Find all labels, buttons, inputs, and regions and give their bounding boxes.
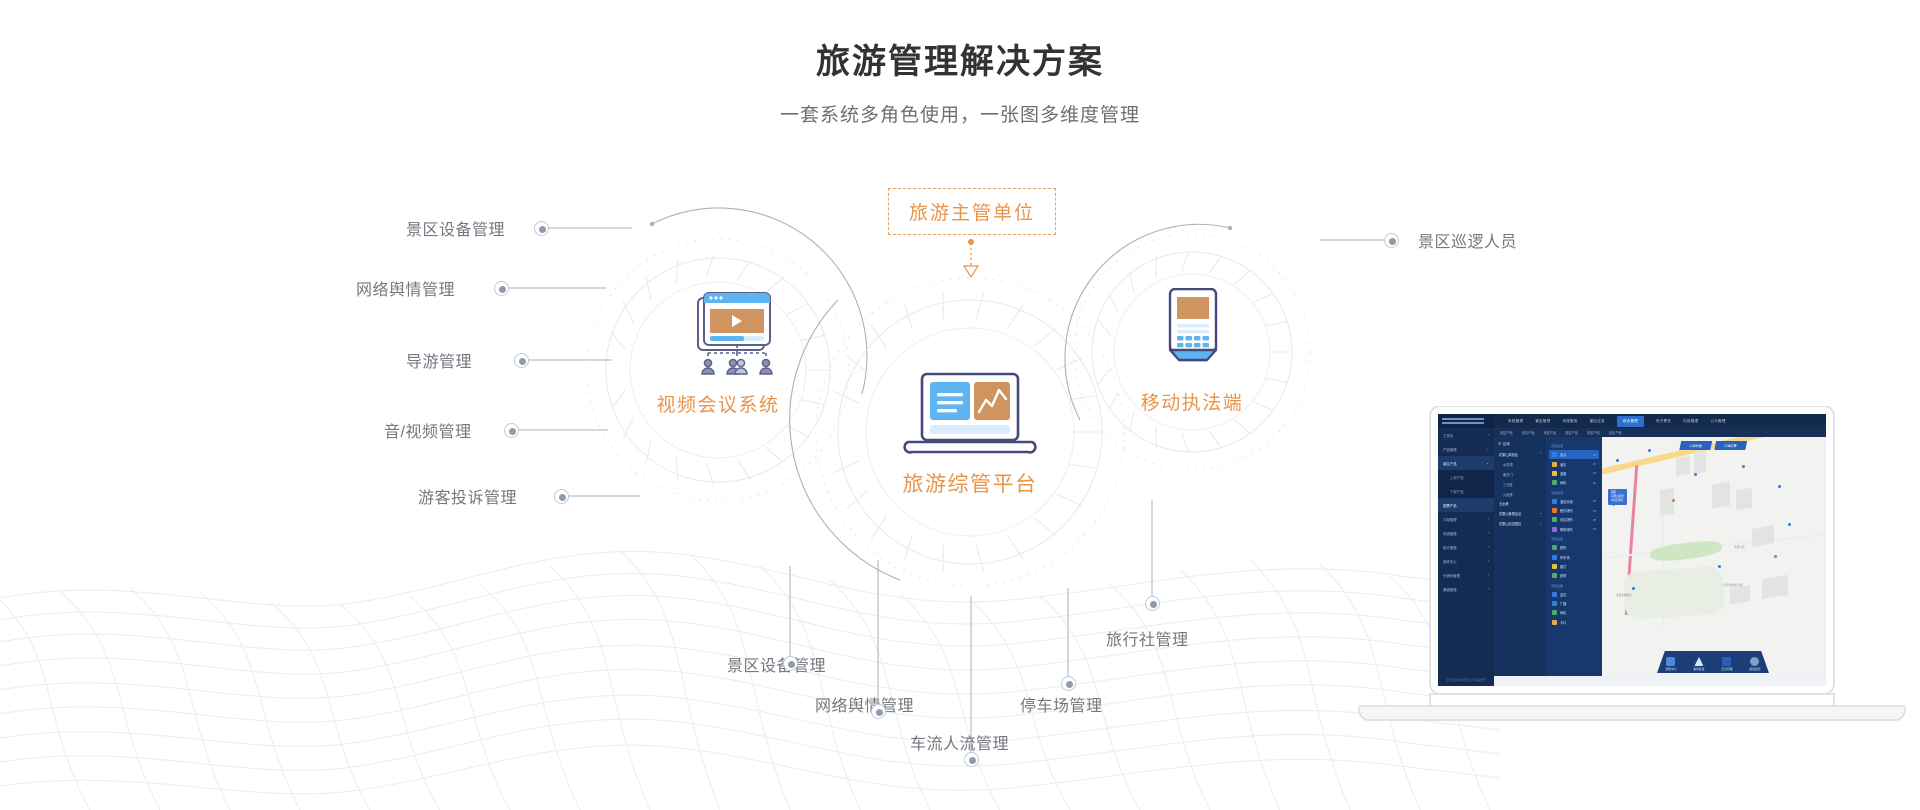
map-action[interactable]: 应急管理	[1721, 657, 1732, 671]
map-view-toggle[interactable]: 二维地图 三维实景	[1679, 441, 1746, 450]
sidebar-item-label: 工作台	[1443, 433, 1453, 438]
bottom-dot-2[interactable]	[964, 752, 979, 767]
chevron-right-icon: ›	[1488, 433, 1489, 437]
layer-color-swatch	[1552, 471, 1557, 476]
chevron-right-icon: ›	[1488, 559, 1489, 563]
map-callout[interactable]: 园区 花果山风景 3件高风险	[1608, 489, 1627, 505]
bottom-dot-1[interactable]	[871, 704, 886, 719]
dashboard-logo	[1438, 414, 1494, 428]
map-green-area	[1649, 539, 1722, 564]
region-row[interactable]: 花果山管委会区⌄	[1498, 509, 1542, 519]
chevron-down-icon: ⌄	[1539, 511, 1542, 516]
layer-item[interactable]: 酒店民宿45	[1549, 497, 1599, 506]
top-menu-item[interactable]: 公众管理	[1710, 419, 1725, 424]
sidebar-item[interactable]: 产品管理⌄	[1438, 442, 1494, 456]
layer-item[interactable]: 厕所	[1549, 543, 1599, 552]
sidebar-item-label: 团票产品	[1443, 503, 1457, 508]
sidebar-item[interactable]: 渠道管理›	[1438, 582, 1494, 596]
bottom-label-1[interactable]: 网络舆情管理	[815, 692, 914, 716]
handheld-device-icon	[1162, 288, 1224, 377]
region-tree-title-label: 区域	[1503, 441, 1510, 446]
map-pin[interactable]	[1778, 485, 1781, 488]
sidebar-item-label: 统计管理	[1443, 545, 1457, 550]
dashboard-sidebar[interactable]: 工作台› 产品管理⌄ 景区产品⌄ 上架产品 下架产品 团票产品 订单管理› 系统…	[1438, 428, 1494, 686]
sidebar-item[interactable]: 景区产品⌄	[1438, 456, 1494, 470]
layer-item[interactable]: 广播	[1549, 599, 1599, 608]
map-action[interactable]: 通知中心	[1665, 657, 1676, 671]
left-label-2[interactable]: 导游管理	[406, 348, 472, 372]
sidebar-item-label: 分销商管理	[1443, 573, 1460, 578]
map-building	[1660, 488, 1674, 516]
layer-color-swatch	[1552, 573, 1557, 578]
layer-group-title: 景区设施	[1551, 537, 1599, 541]
tab-item[interactable]: 景区产品	[1500, 430, 1513, 435]
map-place-label: 世博公园	[1734, 545, 1744, 549]
layer-item[interactable]: 监控	[1549, 590, 1599, 599]
bottom-connector-lines	[790, 500, 1152, 760]
map-building	[1676, 456, 1690, 476]
map-pin[interactable]	[1788, 523, 1791, 526]
menu-icon: ☰	[1498, 442, 1501, 446]
left-label-4[interactable]: 游客投诉管理	[418, 484, 517, 508]
chevron-down-icon: ⌄	[1539, 521, 1542, 526]
map-view-2d[interactable]: 二维地图	[1679, 441, 1712, 450]
layer-item[interactable]: 路灯	[1549, 562, 1599, 571]
dashboard-tab-strip[interactable]: 景区产品 景区产品 景区产品 景区产品 景区产品 景区产品	[1494, 428, 1826, 437]
sidebar-item-label: 订单管理	[1443, 517, 1457, 522]
map-pin[interactable]	[1632, 587, 1635, 590]
sidebar-item-label: 渠道管理	[1443, 587, 1457, 592]
left-dot-1[interactable]	[494, 281, 509, 296]
sidebar-subitem[interactable]: 上架产品	[1438, 470, 1494, 484]
chevron-down-icon: ⌄	[1486, 447, 1489, 451]
region-tree-title: ☰ 区域	[1498, 441, 1542, 446]
map-action[interactable]: 舆情监控	[1749, 657, 1760, 671]
chevron-right-icon: ›	[1488, 517, 1489, 521]
page-title: 旅游管理解决方案	[0, 42, 1920, 83]
sidebar-item-label: 产品管理	[1443, 447, 1457, 452]
map-building	[1730, 585, 1750, 605]
top-menu-item-active[interactable]: 综合管理	[1617, 416, 1644, 427]
layer-item[interactable]: 餐饮场所78	[1549, 506, 1599, 515]
map-pin[interactable]	[1616, 459, 1619, 462]
layer-group-title: 景区设备	[1551, 584, 1599, 588]
map-bottom-bar[interactable]: 通知中心 事件处置 应急管理 舆情监控	[1657, 651, 1769, 673]
region-row[interactable]: 玉女峰	[1498, 499, 1542, 509]
map-view-3d[interactable]: 三维实景	[1714, 441, 1747, 450]
map-pin[interactable]	[1718, 565, 1721, 568]
layer-color-swatch	[1552, 564, 1557, 569]
sidebar-item-label: 操作中心	[1443, 559, 1457, 564]
layer-panel[interactable]: 景区资源 景点23 酒店23 道路23 闸机56 涉旅资源 酒店民宿45 餐饮场…	[1546, 437, 1602, 676]
layer-item[interactable]: 闸机	[1549, 608, 1599, 617]
sidebar-item-label: 下架产品	[1450, 489, 1464, 494]
layer-color-swatch	[1552, 592, 1557, 597]
bottom-label-3[interactable]: 停车场管理	[1020, 692, 1103, 716]
right-label-0[interactable]: 景区巡逻人员	[1418, 228, 1517, 252]
node-caption-tourism-platform: 旅游综管平台	[870, 468, 1070, 498]
layer-color-swatch	[1552, 527, 1557, 532]
layer-item[interactable]: 景点23	[1549, 450, 1599, 459]
sidebar-item[interactable]: 分销商管理›	[1438, 568, 1494, 582]
layer-color-swatch	[1552, 545, 1557, 550]
chevron-right-icon: ›	[1488, 587, 1489, 591]
left-label-3[interactable]: 音/视频管理	[384, 418, 471, 442]
layer-color-swatch	[1552, 555, 1557, 560]
layer-group-title: 涉旅资源	[1551, 491, 1599, 495]
tab-item[interactable]: 景区产品	[1565, 430, 1578, 435]
video-window-icon	[682, 290, 782, 381]
map-building	[1736, 488, 1752, 511]
layer-color-swatch	[1552, 452, 1557, 457]
map-pin[interactable]	[1742, 465, 1745, 468]
node-caption-mobile-enforcement: 移动执法端	[1122, 388, 1262, 415]
top-menu-item[interactable]: 内容管理	[1683, 419, 1698, 424]
sidebar-item[interactable]: 系统管理›	[1438, 526, 1494, 540]
tab-item[interactable]: 景区产品	[1609, 430, 1622, 435]
infographic-page: 旅游管理解决方案 一套系统多角色使用，一张图多维度管理	[0, 0, 1920, 810]
map-green-area	[1622, 566, 1725, 621]
sidebar-subitem[interactable]: 下架产品	[1438, 484, 1494, 498]
dashboard-screen[interactable]: 系统管理 景区管理 涉旅服务 景区应急 综合管理 电子票务 内容管理 公众管理 …	[1438, 414, 1826, 686]
top-menu-item[interactable]: 涉旅服务	[1562, 419, 1577, 424]
node-caption-video-conference: 视频会议系统	[618, 390, 818, 417]
layer-color-swatch	[1552, 610, 1557, 615]
top-menu-item[interactable]: 电子票务	[1656, 419, 1671, 424]
left-label-1[interactable]: 网络舆情管理	[356, 276, 455, 300]
bottom-label-2[interactable]: 车流人流管理	[910, 730, 1009, 754]
layer-item[interactable]: 闸机56	[1549, 478, 1599, 487]
map-pin-alert[interactable]	[1672, 499, 1675, 502]
left-dot-3[interactable]	[504, 423, 519, 438]
top-menu-item[interactable]: 系统管理	[1508, 419, 1523, 424]
layer-item[interactable]: 座椅	[1549, 571, 1599, 580]
sidebar-item[interactable]: 团票产品	[1438, 498, 1494, 512]
layer-color-swatch	[1552, 601, 1557, 606]
layer-item[interactable]: 景区场所95	[1549, 515, 1599, 524]
sidebar-item-label: 上架产品	[1450, 475, 1464, 480]
region-row[interactable]: 南天门	[1498, 470, 1542, 480]
layer-item[interactable]: 停车场	[1549, 552, 1599, 561]
map-pin[interactable]	[1648, 449, 1651, 452]
sidebar-item[interactable]: 统计管理›	[1438, 540, 1494, 554]
layer-color-swatch	[1552, 480, 1557, 485]
chevron-right-icon: ›	[1488, 531, 1489, 535]
left-dot-4[interactable]	[554, 489, 569, 504]
map-place-label: 世博会博物馆	[1616, 593, 1632, 597]
region-tree-panel[interactable]: ☰ 区域 花果山风景区⌃ 水帘洞 南天门 三元宫 九龙桥 玉女峰 花果山管委会区…	[1494, 437, 1546, 676]
dashboard-top-menu[interactable]: 系统管理 景区管理 涉旅服务 景区应急 综合管理 电子票务 内容管理 公众管理	[1494, 416, 1726, 427]
sidebar-item[interactable]: 订单管理›	[1438, 512, 1494, 526]
sidebar-item-label: 景区产品	[1443, 461, 1457, 466]
map-pin-ok[interactable]	[1774, 555, 1777, 558]
region-row[interactable]: 三元宫	[1498, 479, 1542, 489]
region-row[interactable]: 花果山纪念园区⌄	[1498, 518, 1542, 528]
sidebar-item[interactable]: 工作台›	[1438, 428, 1494, 442]
dashboard-topbar: 系统管理 景区管理 涉旅服务 景区应急 综合管理 电子票务 内容管理 公众管理	[1438, 414, 1826, 428]
layer-color-swatch	[1552, 620, 1557, 625]
map-canvas[interactable]: 园区 花果山风景 3件高风险 上海世博会纪念展 世博公园 世博会博物馆 二维地图…	[1602, 437, 1824, 676]
chevron-up-icon: ⌃	[1539, 452, 1542, 457]
layer-item[interactable]: 道路23	[1549, 469, 1599, 478]
left-label-0[interactable]: 景区设备管理	[406, 216, 505, 240]
bottom-dot-0[interactable]	[783, 656, 798, 671]
laptop-dashboard-icon	[900, 372, 1040, 461]
laptop-mockup: 系统管理 景区管理 涉旅服务 景区应急 综合管理 电子票务 内容管理 公众管理 …	[1356, 406, 1908, 758]
sidebar-item-label: 系统管理	[1443, 531, 1457, 536]
right-dot-0[interactable]	[1384, 233, 1399, 248]
map-building	[1752, 525, 1774, 547]
map-action[interactable]: 事件处置	[1693, 657, 1704, 671]
bottom-dot-3[interactable]	[1061, 676, 1076, 691]
authority-chip[interactable]: 旅游主管单位	[888, 188, 1056, 235]
sidebar-footer: 江苏某某科技有限公司 版权所有	[1438, 678, 1494, 682]
layer-item[interactable]: 购物场所76	[1549, 525, 1599, 534]
left-dot-0[interactable]	[534, 221, 549, 236]
map-building	[1694, 450, 1706, 474]
layer-item[interactable]: 酒店23	[1549, 459, 1599, 468]
top-menu-item[interactable]: 景区应急	[1590, 419, 1605, 424]
layer-item[interactable]: 卡口	[1549, 618, 1599, 627]
bottom-label-4[interactable]: 旅行社管理	[1106, 626, 1189, 650]
chevron-right-icon: ›	[1488, 573, 1489, 577]
map-pin[interactable]	[1694, 473, 1697, 476]
sidebar-item[interactable]: 操作中心›	[1438, 554, 1494, 568]
bottom-label-0[interactable]: 景区设备管理	[727, 652, 826, 676]
region-row[interactable]: 水帘洞	[1498, 460, 1542, 470]
layer-color-swatch	[1552, 499, 1557, 504]
layer-color-swatch	[1552, 517, 1557, 522]
authority-arrow	[964, 239, 978, 277]
tab-item[interactable]: 景区产品	[1522, 430, 1535, 435]
chevron-right-icon: ›	[1488, 545, 1489, 549]
map-building	[1712, 481, 1730, 508]
region-row[interactable]: 花果山风景区⌃	[1498, 450, 1542, 460]
map-place-label: 上海世博会纪念展	[1722, 583, 1743, 587]
layer-color-swatch	[1552, 508, 1557, 513]
tab-item[interactable]: 景区产品	[1587, 430, 1600, 435]
page-subtitle: 一套系统多角色使用，一张图多维度管理	[0, 100, 1920, 127]
top-menu-item[interactable]: 景区管理	[1535, 419, 1550, 424]
tab-item[interactable]: 景区产品	[1544, 430, 1557, 435]
layer-group-title: 景区资源	[1551, 444, 1599, 448]
layer-color-swatch	[1552, 462, 1557, 467]
left-dot-2[interactable]	[514, 353, 529, 368]
chevron-down-icon: ⌄	[1486, 461, 1489, 465]
background-mesh-decoration	[0, 480, 1500, 810]
page-header: 旅游管理解决方案 一套系统多角色使用，一张图多维度管理	[0, 0, 1920, 127]
map-building	[1762, 575, 1788, 600]
region-row[interactable]: 九龙桥	[1498, 489, 1542, 499]
bottom-dot-4[interactable]	[1145, 596, 1160, 611]
